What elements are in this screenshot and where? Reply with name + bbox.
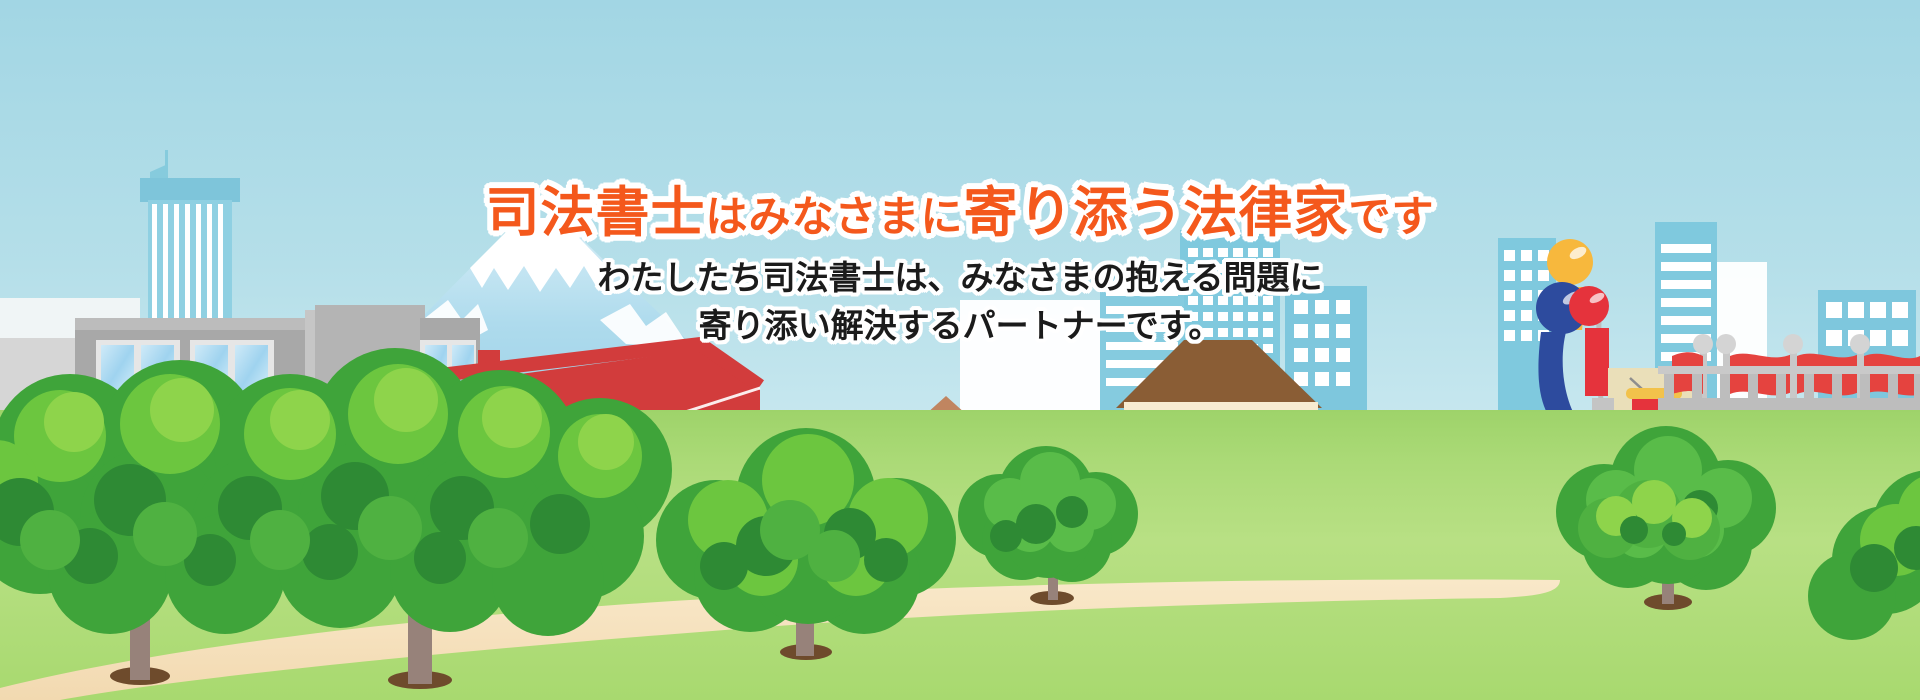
bush-right-foreground (1808, 470, 1920, 640)
hero-banner: 司法書士はみなさまに寄り添う法律家です わたしたち司法書士は、みなさまの抱える問… (0, 0, 1920, 700)
foreground-trees-layer (0, 0, 1920, 700)
tree-cluster-left (0, 348, 672, 689)
tree-cluster-midleft (656, 428, 956, 660)
tree-small-center (958, 446, 1138, 605)
